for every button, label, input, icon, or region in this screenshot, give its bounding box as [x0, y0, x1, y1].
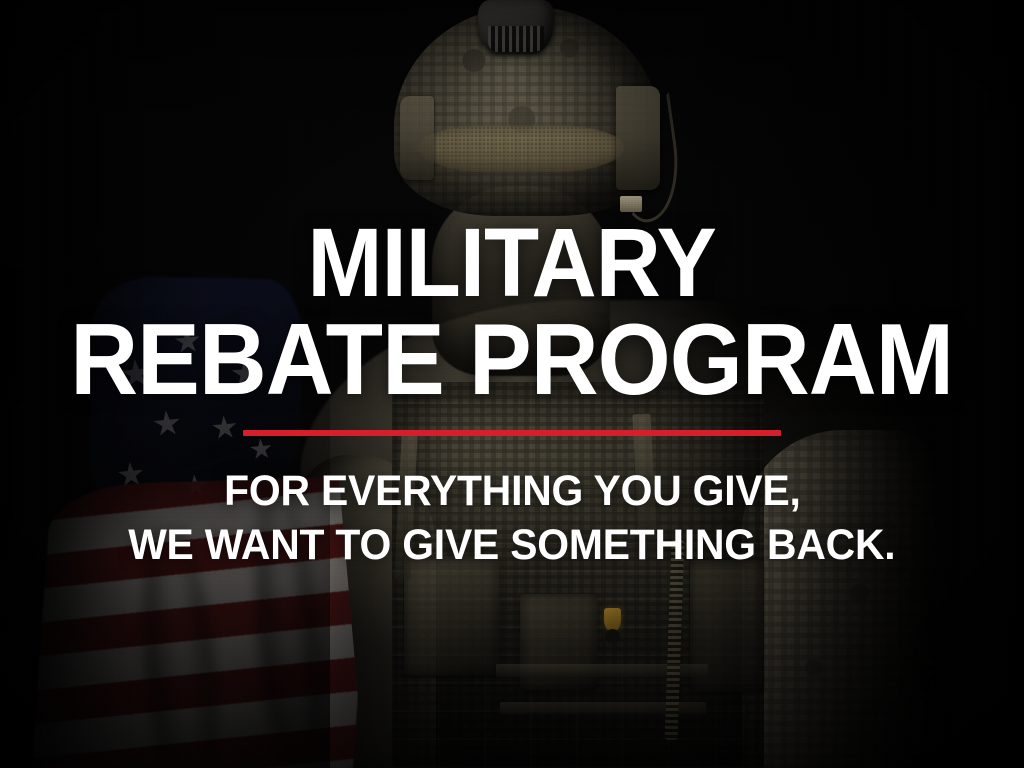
text-overlay: MILITARY REBATE PROGRAM FOR EVERYTHING Y… [0, 0, 1024, 768]
headline-line-1: MILITARY [308, 216, 716, 310]
subheading-line-1: FOR EVERYTHING YOU GIVE, [224, 464, 801, 518]
red-rule-divider [243, 430, 781, 436]
subheading-line-2: WE WANT TO GIVE SOMETHING BACK. [128, 518, 895, 572]
promo-slide: MILITARY REBATE PROGRAM FOR EVERYTHING Y… [0, 0, 1024, 768]
headline-line-2: REBATE PROGRAM [71, 312, 954, 410]
